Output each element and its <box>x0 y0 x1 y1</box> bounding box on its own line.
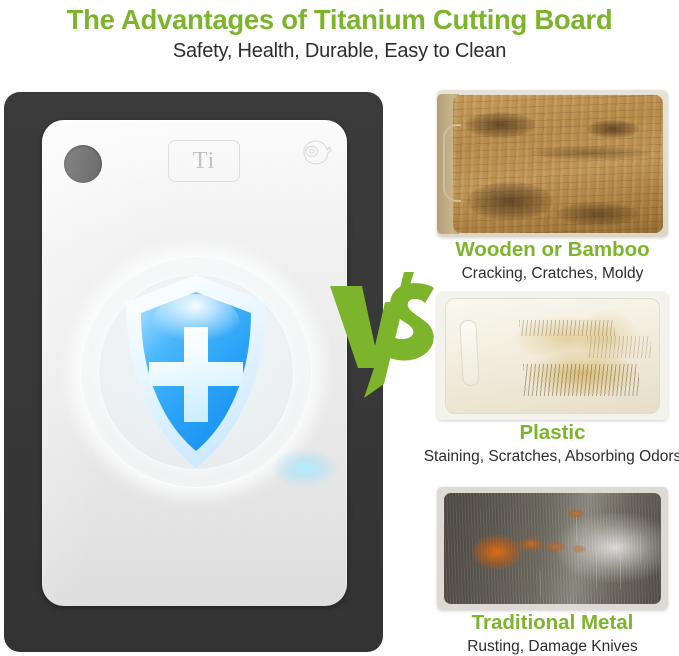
page-subtitle: Safety, Health, Durable, Easy to Clean <box>0 37 679 65</box>
plastic-title: Plastic <box>437 420 668 446</box>
header: The Advantages of Titanium Cutting Board… <box>0 0 679 80</box>
meat-icon <box>299 137 333 169</box>
metal-issues: Rusting, Damage Knives <box>437 636 668 656</box>
titanium-panel: Ti <box>4 92 383 652</box>
comparison-item-metal: Traditional Metal Rusting, Damage Knives <box>437 487 668 656</box>
wooden-title: Wooden or Bamboo <box>437 237 668 263</box>
plastic-issues: Staining, Scratches, Absorbing Odors <box>399 446 679 468</box>
wooden-board-photo <box>437 90 668 237</box>
wooden-issues: Cracking, Cratches, Moldy <box>437 263 668 285</box>
hang-hole-icon <box>64 145 102 183</box>
infographic-root: The Advantages of Titanium Cutting Board… <box>0 0 679 656</box>
titanium-board-surface: Ti <box>42 120 347 606</box>
metal-title: Traditional Metal <box>437 610 668 636</box>
ti-logo: Ti <box>168 140 240 182</box>
rope-handle <box>443 124 461 202</box>
lens-flare <box>270 448 340 488</box>
shield-cross-icon <box>120 272 272 472</box>
ti-logo-label: Ti <box>193 148 215 175</box>
page-title: The Advantages of Titanium Cutting Board <box>0 0 679 37</box>
plastic-board-photo <box>437 292 668 420</box>
vs-icon <box>328 272 440 398</box>
comparison-item-wooden: Wooden or Bamboo Cracking, Cratches, Mol… <box>437 90 668 285</box>
comparison-item-plastic: Plastic Staining, Scratches, Absorbing O… <box>437 292 668 468</box>
metal-board-photo <box>437 487 668 610</box>
shield-graphic <box>54 250 335 500</box>
plastic-handle-hole <box>459 320 479 387</box>
